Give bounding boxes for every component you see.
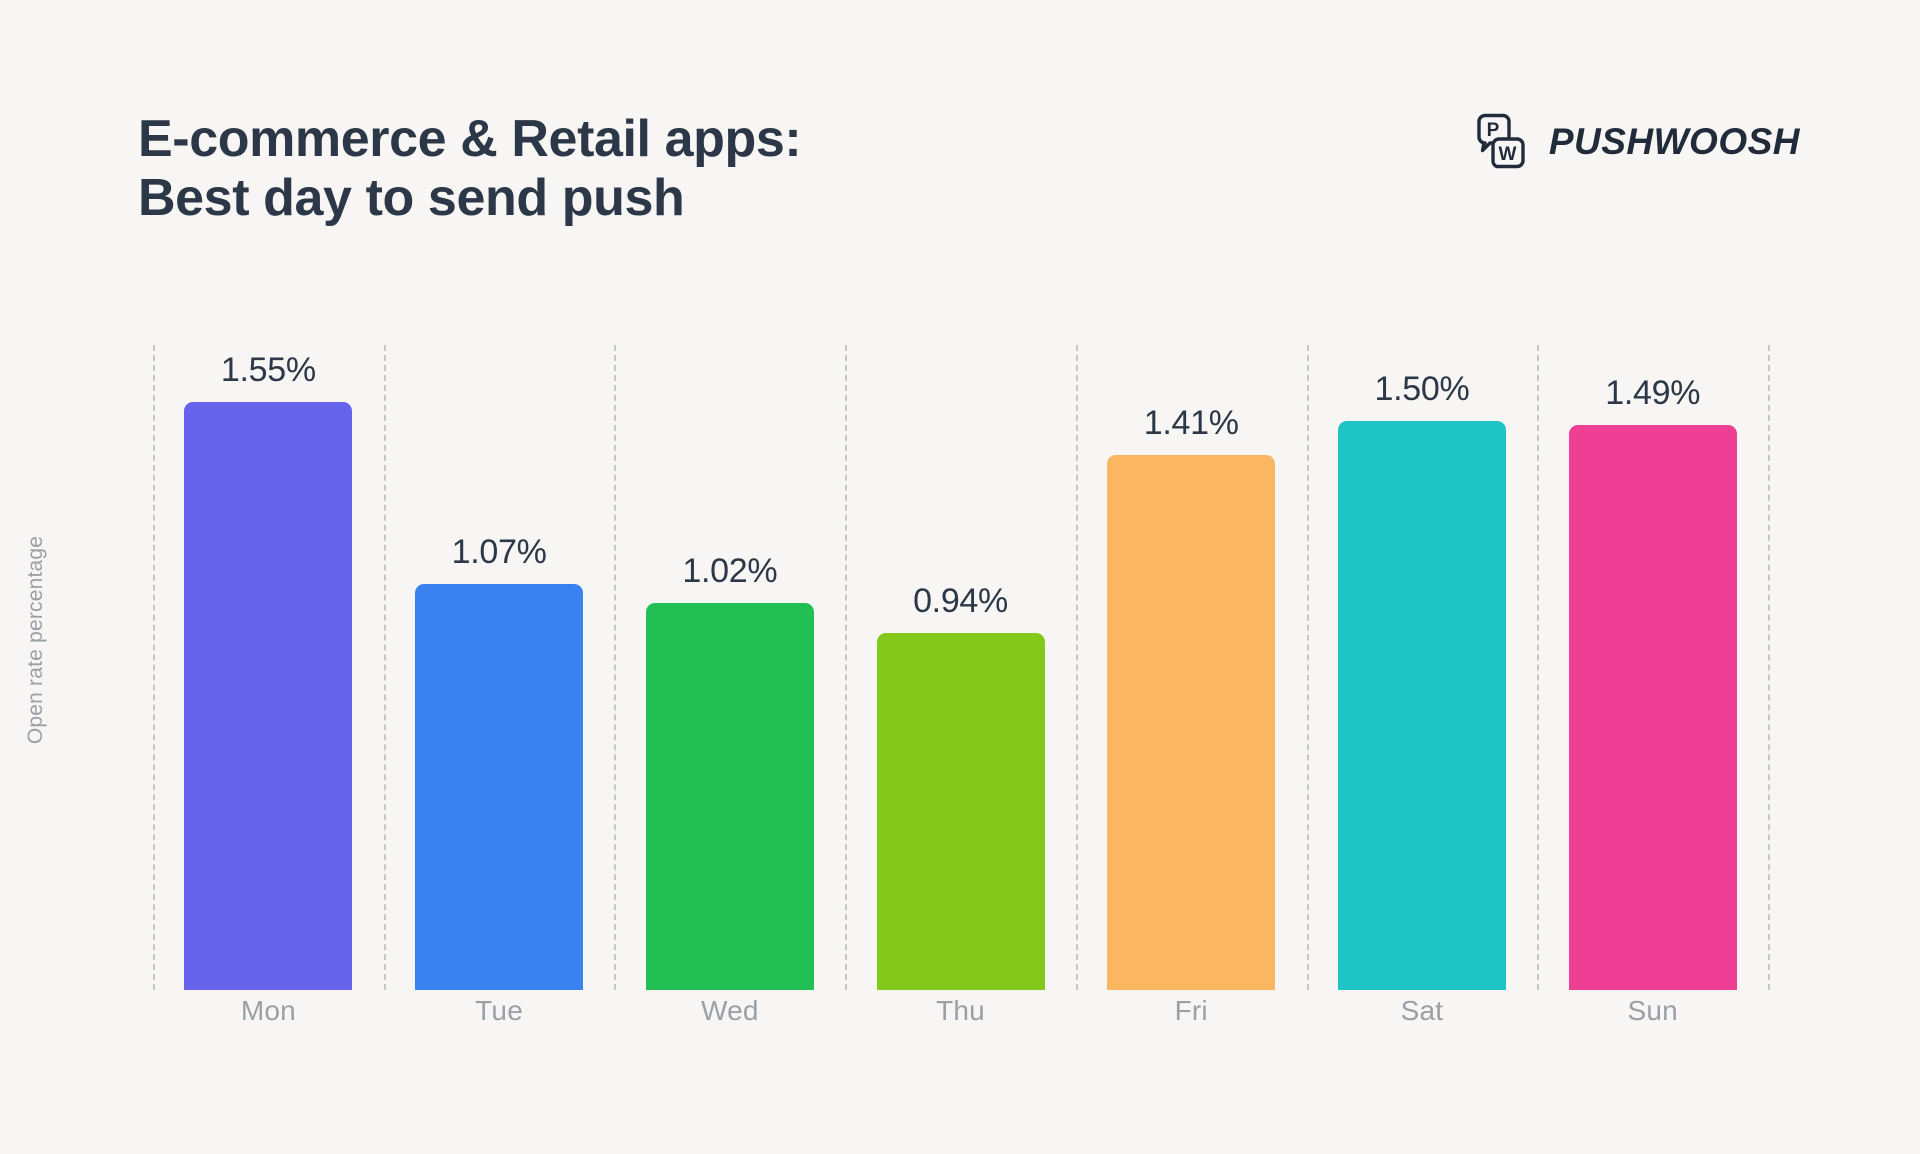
bar-group-sat[interactable]: 1.50% <box>1307 345 1538 990</box>
bar-thu[interactable] <box>877 633 1045 990</box>
bar-group-mon[interactable]: 1.55% <box>153 345 384 990</box>
bar-chart: Open rate percentage 1.55%1.07%1.02%0.94… <box>0 280 1920 1080</box>
x-axis-label-thu: Thu <box>845 995 1076 1055</box>
bar-group-fri[interactable]: 1.41% <box>1076 345 1307 990</box>
svg-text:W: W <box>1498 144 1516 165</box>
bar-group-wed[interactable]: 1.02% <box>614 345 845 990</box>
bar-value-fri: 1.41% <box>1144 404 1239 443</box>
y-axis-label-text: Open rate percentage <box>24 536 48 744</box>
pushwoosh-logo: P W PUSHWOOSH <box>1473 112 1800 170</box>
gridline <box>1768 345 1770 990</box>
pushwoosh-wordmark: PUSHWOOSH <box>1549 123 1800 160</box>
x-axis-label-fri: Fri <box>1076 995 1307 1055</box>
bar-value-sat: 1.50% <box>1375 370 1470 409</box>
bar-value-wed: 1.02% <box>682 552 777 591</box>
x-axis-label-sun: Sun <box>1537 995 1768 1055</box>
bar-tue[interactable] <box>415 584 583 990</box>
bar-series: 1.55%1.07%1.02%0.94%1.41%1.50%1.49% <box>153 345 1768 990</box>
x-axis-label-sat: Sat <box>1307 995 1538 1055</box>
page-title: E-commerce & Retail apps: Best day to se… <box>138 110 801 228</box>
x-axis-label-tue: Tue <box>384 995 615 1055</box>
pushwoosh-mark-icon: P W <box>1473 112 1531 170</box>
bar-group-sun[interactable]: 1.49% <box>1537 345 1768 990</box>
bar-value-tue: 1.07% <box>452 533 547 572</box>
plot-area: 1.55%1.07%1.02%0.94%1.41%1.50%1.49% <box>153 345 1768 990</box>
bar-value-sun: 1.49% <box>1605 374 1700 413</box>
x-axis-label-wed: Wed <box>614 995 845 1055</box>
bar-group-tue[interactable]: 1.07% <box>384 345 615 990</box>
bar-fri[interactable] <box>1107 455 1275 990</box>
x-axis-labels: MonTueWedThuFriSatSun <box>153 995 1768 1055</box>
bar-value-mon: 1.55% <box>221 351 316 390</box>
y-axis-label: Open rate percentage <box>0 280 140 1000</box>
bar-mon[interactable] <box>184 402 352 990</box>
bar-sun[interactable] <box>1569 425 1737 990</box>
bar-group-thu[interactable]: 0.94% <box>845 345 1076 990</box>
bar-sat[interactable] <box>1338 421 1506 990</box>
header: E-commerce & Retail apps: Best day to se… <box>0 0 1920 280</box>
bar-value-thu: 0.94% <box>913 582 1008 621</box>
page-title-line-2: Best day to send push <box>138 169 801 228</box>
x-axis-label-mon: Mon <box>153 995 384 1055</box>
page-title-line-1: E-commerce & Retail apps: <box>138 110 801 169</box>
bar-wed[interactable] <box>646 603 814 990</box>
